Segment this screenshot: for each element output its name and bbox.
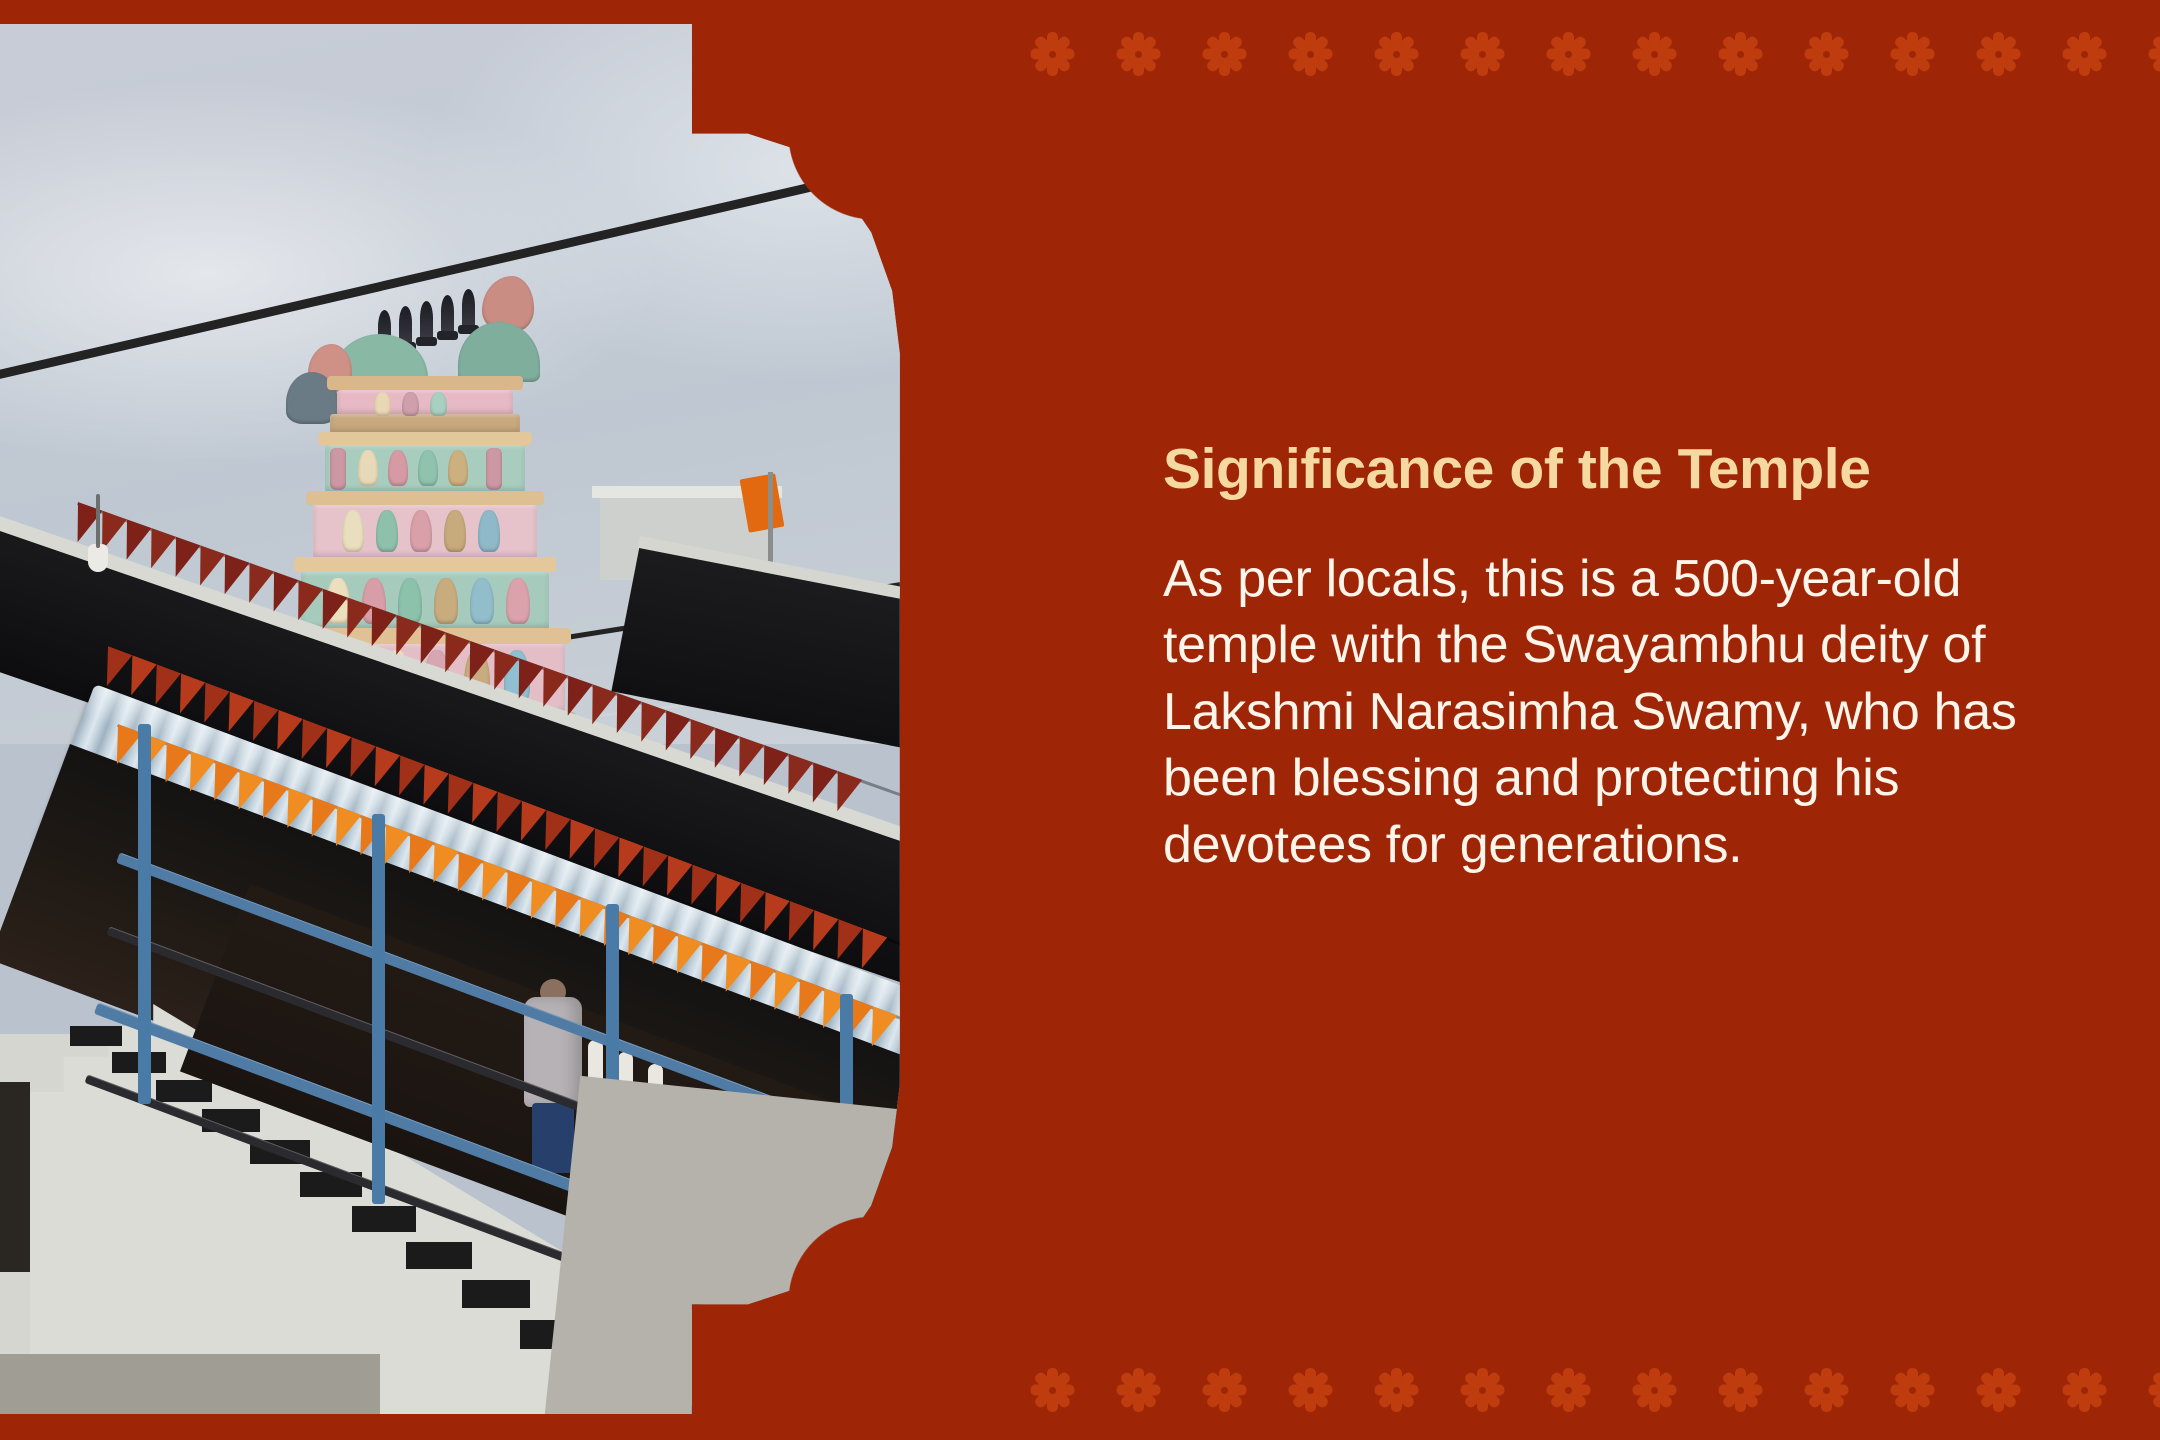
star-rosette-icon xyxy=(1202,1368,1246,1412)
star-rosette-icon xyxy=(1288,32,1332,76)
gopuram-tier-1 xyxy=(337,390,513,416)
gopuram-deity-2b xyxy=(388,450,408,486)
section-title: Significance of the Temple xyxy=(1163,440,2063,500)
gopuram-cornice-1 xyxy=(327,376,523,390)
stair-riser xyxy=(70,1026,122,1046)
star-rosette-icon xyxy=(2148,1368,2160,1412)
gopuram-deity-4d xyxy=(434,578,458,624)
star-rosette-icon xyxy=(1976,32,2020,76)
gopuram-deity-3c xyxy=(410,510,432,552)
hanging-light-bulb xyxy=(88,544,108,572)
star-rosette-icon xyxy=(1374,32,1418,76)
stair-riser xyxy=(352,1206,416,1232)
terrace-baluster xyxy=(588,1040,603,1082)
gopuram-deity-1c xyxy=(430,392,447,416)
gopuram-finial xyxy=(462,289,475,329)
gopuram-deity-2a xyxy=(358,450,378,486)
section-body-text: As per locals, this is a 500-year-old te… xyxy=(1163,546,2053,879)
star-rosette-icon xyxy=(1460,1368,1504,1412)
star-rosette-icon xyxy=(1202,32,1246,76)
gopuram-deity-1a xyxy=(374,392,391,416)
star-rosette-icon xyxy=(1116,32,1160,76)
stair-riser xyxy=(406,1242,472,1269)
text-column: Significance of the Temple As per locals… xyxy=(1163,440,2063,879)
gopuram-deity-4f xyxy=(506,578,530,624)
star-rosette-icon xyxy=(1116,1368,1160,1412)
gopuram-finial xyxy=(420,301,433,341)
star-rosette-icon xyxy=(1804,32,1848,76)
temple-photo-image xyxy=(0,24,1100,1414)
gopuram-deity-1b xyxy=(402,392,419,416)
slide-canvas: Significance of the Temple As per locals… xyxy=(0,0,2160,1440)
star-rosette-icon xyxy=(1718,1368,1762,1412)
stair-riser xyxy=(462,1280,530,1308)
star-rosette-icon xyxy=(1890,32,1934,76)
gopuram-finial xyxy=(441,295,454,335)
railing-post xyxy=(372,814,385,1204)
gopuram-deity-2d xyxy=(448,450,468,486)
star-rosette-icon xyxy=(1890,1368,1934,1412)
star-rosette-icon xyxy=(1546,1368,1590,1412)
star-rosette-icon xyxy=(2148,32,2160,76)
gopuram-pilaster-2r xyxy=(486,448,502,490)
bulb-wire xyxy=(96,494,100,548)
temple-photo-panel xyxy=(0,24,1100,1414)
star-rosette-icon xyxy=(2062,1368,2106,1412)
star-rosette-icon xyxy=(1374,1368,1418,1412)
gopuram-deity-2c xyxy=(418,450,438,486)
foreground-ground xyxy=(0,1354,380,1414)
railing-post xyxy=(138,724,151,1104)
gopuram-deity-3b xyxy=(376,510,398,552)
gopuram-deity-4e xyxy=(470,578,494,624)
star-rosette-icon xyxy=(1632,1368,1676,1412)
gopuram-pilaster-2l xyxy=(330,448,346,490)
star-rosette-icon xyxy=(1460,32,1504,76)
gopuram-tier-1b xyxy=(330,414,520,434)
star-rosette-icon xyxy=(1718,32,1762,76)
star-rosette-icon xyxy=(1804,1368,1848,1412)
person-legs xyxy=(532,1103,574,1173)
gopuram-cornice-2 xyxy=(318,432,532,445)
gopuram-cornice-3 xyxy=(306,491,544,505)
foreground-pavement xyxy=(543,1076,1100,1414)
gopuram-cornice-4 xyxy=(294,557,556,572)
gopuram-deity-3a xyxy=(342,510,364,552)
gopuram-deity-3d xyxy=(444,510,466,552)
gopuram-deity-3e xyxy=(478,510,500,552)
star-rosette-icon xyxy=(1976,1368,2020,1412)
star-rosette-icon xyxy=(1632,32,1676,76)
star-rosette-icon xyxy=(1288,1368,1332,1412)
stair-riser xyxy=(156,1080,212,1102)
star-rosette-icon xyxy=(2062,32,2106,76)
star-rosette-icon xyxy=(1546,32,1590,76)
